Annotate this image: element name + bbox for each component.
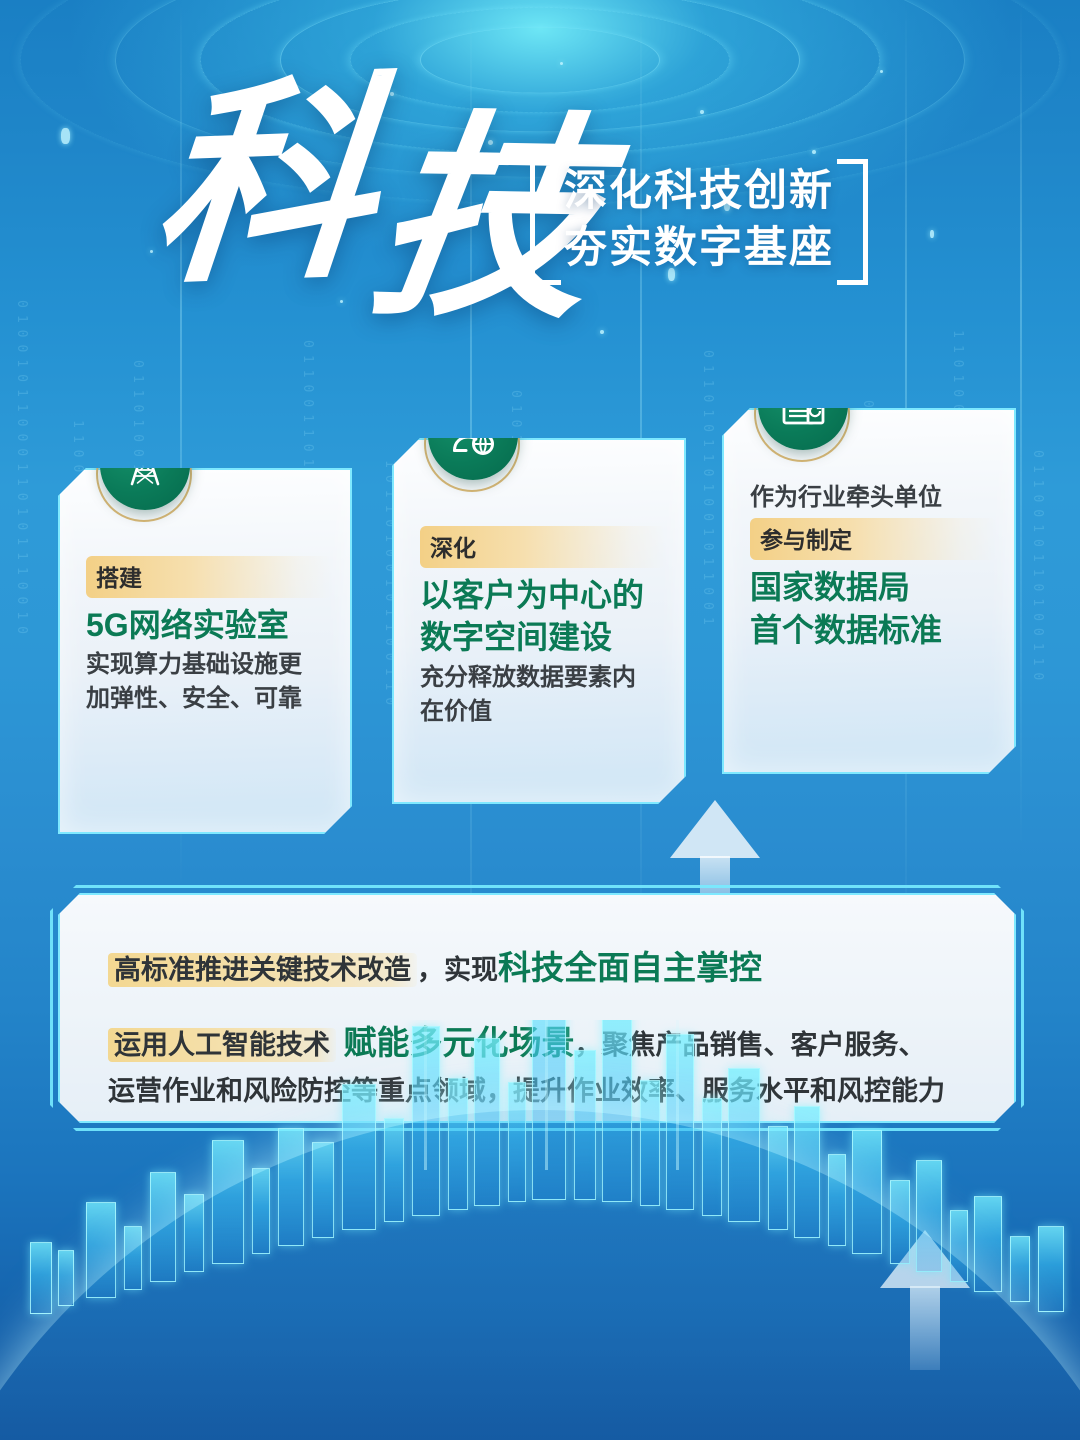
card-body-line-1: 实现算力基础设施更	[86, 648, 324, 682]
panel-paragraph-2: 运用人工智能技术 赋能多元化场景，聚焦产品销售、客户服务、 运营作业和风险防控等…	[108, 1016, 970, 1113]
card-5g-lab[interactable]: 搭建 5G网络实验室 实现算力基础设施更 加弹性、安全、可靠	[58, 468, 352, 834]
signal-tower-icon	[96, 426, 192, 522]
title-char-1: 科	[144, 62, 390, 311]
panel-paragraph-1: 高标准推进关键技术改造，实现科技全面自主掌控	[108, 941, 970, 994]
card-tag: 深化	[420, 526, 666, 568]
card-title-line-1: 以客户为中心的	[420, 576, 658, 614]
card-title: 5G网络实验室	[86, 606, 324, 644]
poster-header: 科技 深化科技创新 夯实数字基座	[0, 74, 1080, 354]
up-arrow-small	[880, 1230, 970, 1370]
clipboard-chart-icon	[754, 366, 850, 462]
panel-p2-green: 赋能多元化场景	[344, 1024, 575, 1061]
panel-p1-plain: ，实现	[417, 955, 498, 985]
globe	[0, 1110, 1080, 1440]
card-tag: 搭建	[86, 556, 332, 598]
card-data-standard[interactable]: 作为行业牵头单位 参与制定 国家数据局 首个数据标准	[722, 408, 1016, 774]
card-body-line-2: 在价值	[420, 695, 658, 729]
panel-p2-line-2: 运营作业和风险防控等重点领域，提升作业效率、服务水平和风控能力	[108, 1070, 970, 1114]
card-pre-text: 作为行业牵头单位	[750, 482, 988, 514]
poster-root: 01001011000110101110010 1100101011001010…	[0, 0, 1080, 1440]
card-title-line-2: 首个数据标准	[750, 611, 988, 649]
summary-panel[interactable]: 高标准推进关键技术改造，实现科技全面自主掌控 运用人工智能技术 赋能多元化场景，…	[58, 893, 1016, 1123]
panel-p2-highlight: 运用人工智能技术	[108, 1028, 336, 1062]
panel-p1-green: 科技全面自主掌控	[498, 949, 762, 986]
card-body-line-1: 充分释放数据要素内	[420, 661, 658, 695]
card-body-line-2: 加弹性、安全、可靠	[86, 682, 324, 716]
subtitle-line-2: 夯实数字基座	[564, 220, 834, 277]
panel-p1-highlight: 高标准推进关键技术改造	[108, 953, 417, 987]
chevron-arrows-icon	[1016, 386, 1080, 404]
user-globe-icon	[424, 396, 520, 492]
card-tag: 参与制定	[750, 518, 996, 560]
subtitle-line-1: 深化科技创新	[564, 163, 834, 220]
panel-p2-rest: ，聚焦产品销售、客户服务、	[575, 1030, 926, 1060]
subtitle-bracket: 深化科技创新 夯实数字基座	[530, 159, 868, 281]
card-digital-space[interactable]: 深化 以客户为中心的 数字空间建设 充分释放数据要素内 在价值	[392, 438, 686, 804]
card-title-line-1: 国家数据局	[750, 568, 988, 606]
card-title-line-2: 数字空间建设	[420, 618, 658, 656]
